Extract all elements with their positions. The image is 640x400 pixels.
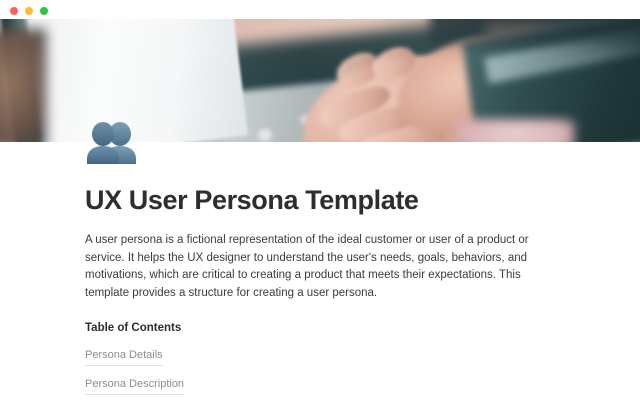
window-titlebar — [0, 0, 640, 19]
traffic-light-group — [10, 7, 48, 15]
page-title: UX User Persona Template — [85, 187, 419, 214]
hero-top-shadow — [430, 19, 640, 51]
hero-left-blur — [0, 29, 46, 142]
maximize-button[interactable] — [40, 7, 48, 15]
table-of-contents-list: Persona Details Persona Description — [85, 345, 285, 400]
intro-paragraph: A user persona is a fictional representa… — [85, 232, 555, 302]
toc-link-persona-description[interactable]: Persona Description — [85, 377, 184, 395]
users-icon — [85, 122, 141, 164]
hero-bokeh-4 — [258, 129, 272, 141]
app-window: UX User Persona Template A user persona … — [0, 0, 640, 400]
table-of-contents-heading: Table of Contents — [85, 322, 181, 334]
minimize-button[interactable] — [25, 7, 33, 15]
toc-link-persona-details[interactable]: Persona Details — [85, 348, 163, 366]
hero-bottom-glow — [455, 119, 575, 142]
list-item: Persona Description — [85, 374, 285, 400]
close-button[interactable] — [10, 7, 18, 15]
list-item: Persona Details — [85, 345, 285, 374]
